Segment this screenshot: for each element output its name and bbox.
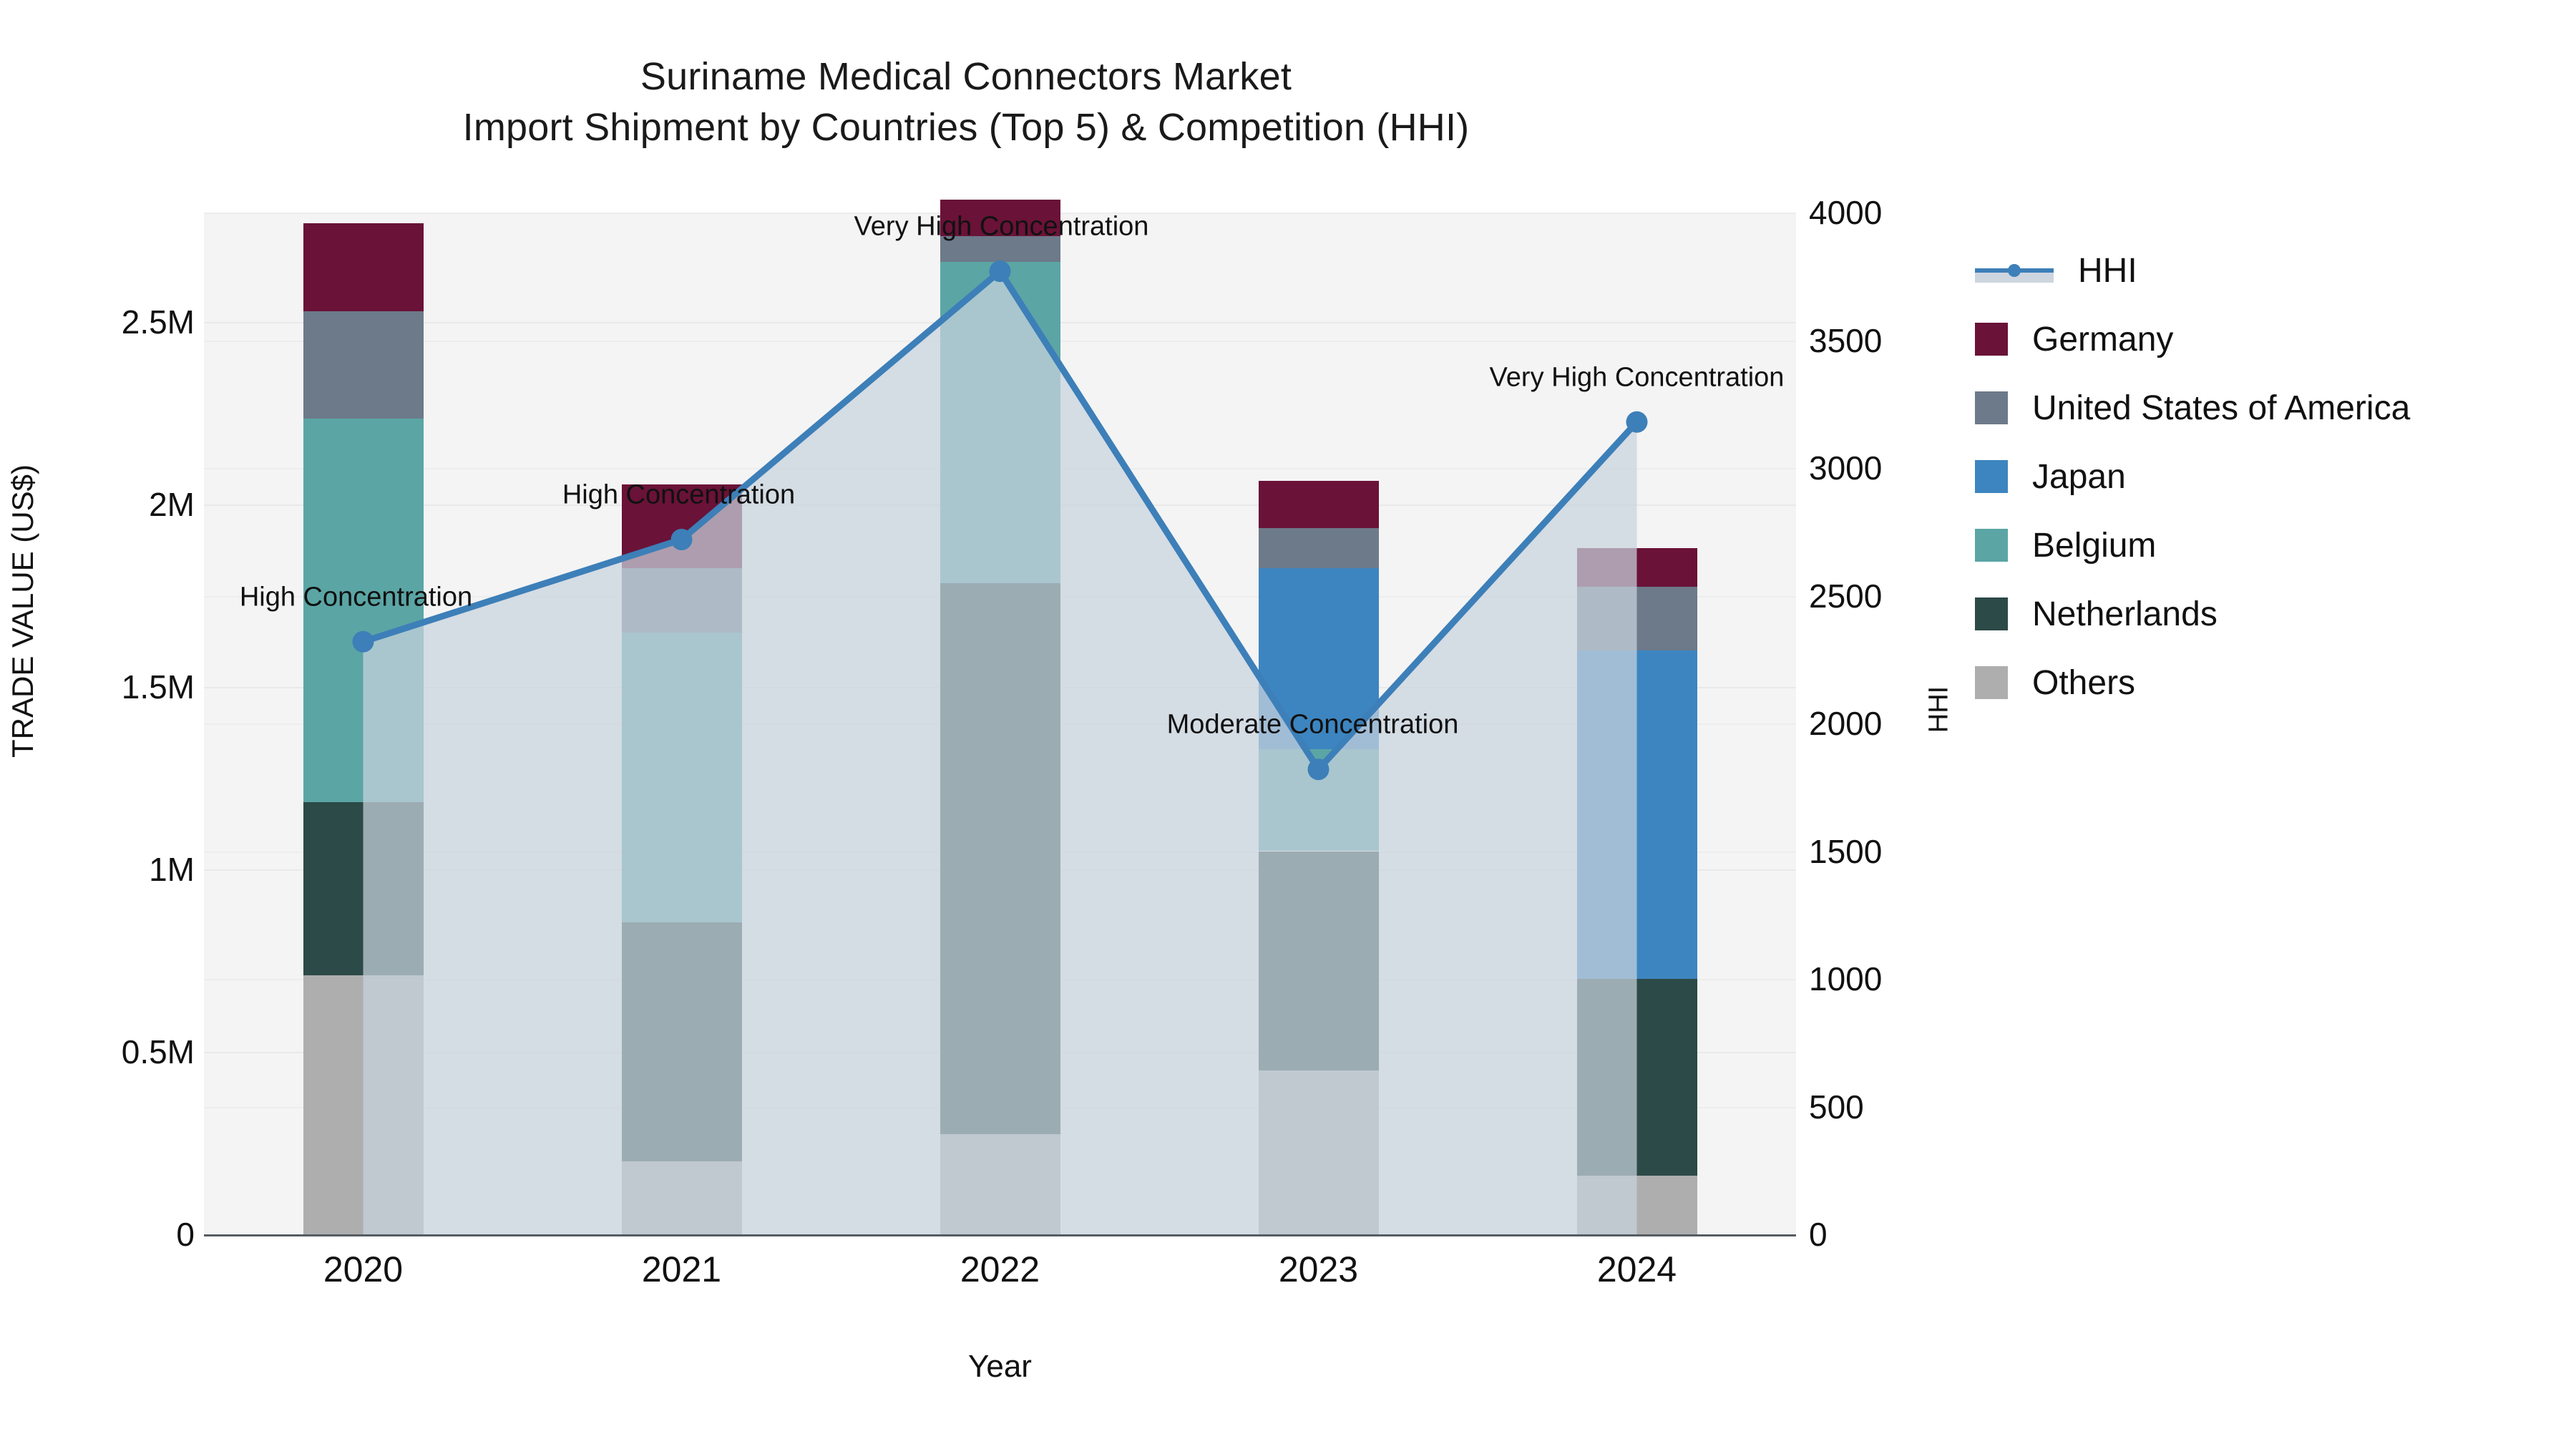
legend-swatch-icon (1975, 323, 2008, 356)
hhi-point-2021[interactable] (671, 529, 693, 550)
x-tick-2024: 2024 (1544, 1249, 1730, 1290)
y-tick-right: 2500 (1809, 577, 1882, 615)
legend-swatch-icon (1975, 460, 2008, 493)
y-tick-right: 4000 (1809, 193, 1882, 232)
legend-swatch-icon (1975, 391, 2008, 424)
y-tick-right: 2000 (1809, 704, 1882, 743)
legend-label: Belgium (2032, 526, 2156, 565)
chart-legend: HHIGermanyUnited States of AmericaJapanB… (1975, 236, 2562, 717)
y-tick-right: 500 (1809, 1088, 1864, 1126)
x-tick-2020: 2020 (270, 1249, 457, 1290)
hhi-annotation-2020: High Concentration (240, 582, 472, 613)
y-tick-left: 2.5M (122, 303, 195, 341)
chart-title-line-1: Suriname Medical Connectors Market (0, 52, 1932, 102)
y-tick-right: 0 (1809, 1215, 1828, 1254)
chart-title-line-2: Import Shipment by Countries (Top 5) & C… (0, 102, 1932, 153)
legend-label: HHI (2078, 251, 2137, 291)
hhi-annotation-2024: Very High Concentration (1490, 362, 1785, 393)
y-tick-left: 1M (149, 850, 195, 889)
y-tick-left: 2M (149, 485, 195, 524)
chart-title: Suriname Medical Connectors Market Impor… (0, 52, 1932, 154)
legend-item-germany[interactable]: Germany (1975, 305, 2562, 374)
x-tick-2022: 2022 (907, 1249, 1093, 1290)
legend-swatch-icon (1975, 666, 2008, 699)
legend-item-hhi[interactable]: HHI (1975, 236, 2562, 305)
legend-label: Netherlands (2032, 595, 2218, 634)
chart-page: Suriname Medical Connectors Market Impor… (0, 0, 2576, 1449)
y-tick-right: 1500 (1809, 832, 1882, 871)
hhi-point-2024[interactable] (1626, 411, 1648, 433)
hhi-point-2020[interactable] (353, 631, 374, 653)
legend-item-belgium[interactable]: Belgium (1975, 511, 2562, 580)
y-tick-left: 1.5M (122, 668, 195, 706)
hhi-point-2022[interactable] (990, 260, 1011, 282)
y-tick-right: 1000 (1809, 960, 1882, 998)
legend-label: Others (2032, 663, 2135, 703)
legend-item-netherlands[interactable]: Netherlands (1975, 580, 2562, 648)
hhi-annotation-2023: Moderate Concentration (1167, 710, 1459, 741)
hhi-annotation-2022: Very High Concentration (854, 212, 1149, 243)
hhi-area-fill (364, 271, 1637, 1234)
legend-label: United States of America (2032, 389, 2410, 428)
legend-swatch-icon (1975, 529, 2008, 562)
hhi-point-2023[interactable] (1308, 758, 1330, 780)
y-tick-left: 0 (176, 1215, 195, 1254)
legend-label: Japan (2032, 457, 2126, 497)
y-tick-right: 3000 (1809, 449, 1882, 487)
legend-item-others[interactable]: Others (1975, 648, 2562, 717)
y-axis-right-labels: 05001000150020002500300035004000 (1809, 0, 2024, 1449)
legend-label: Germany (2032, 320, 2173, 359)
x-tick-2021: 2021 (589, 1249, 775, 1290)
y-tick-left: 0.5M (122, 1033, 195, 1071)
hhi-annotation-2021: High Concentration (562, 479, 795, 510)
x-tick-2023: 2023 (1226, 1249, 1412, 1290)
legend-item-united-states-of-america[interactable]: United States of America (1975, 374, 2562, 442)
y-axis-left-title: TRADE VALUE (US$) (6, 425, 40, 797)
legend-swatch-icon (1975, 597, 2008, 630)
y-tick-right: 3500 (1809, 321, 1882, 360)
legend-item-japan[interactable]: Japan (1975, 442, 2562, 511)
x-axis-line (204, 1234, 1796, 1236)
x-axis-title: Year (204, 1349, 1796, 1385)
legend-line-marker-icon (1975, 254, 2054, 287)
y-axis-right-title: HHI (1924, 602, 1955, 817)
